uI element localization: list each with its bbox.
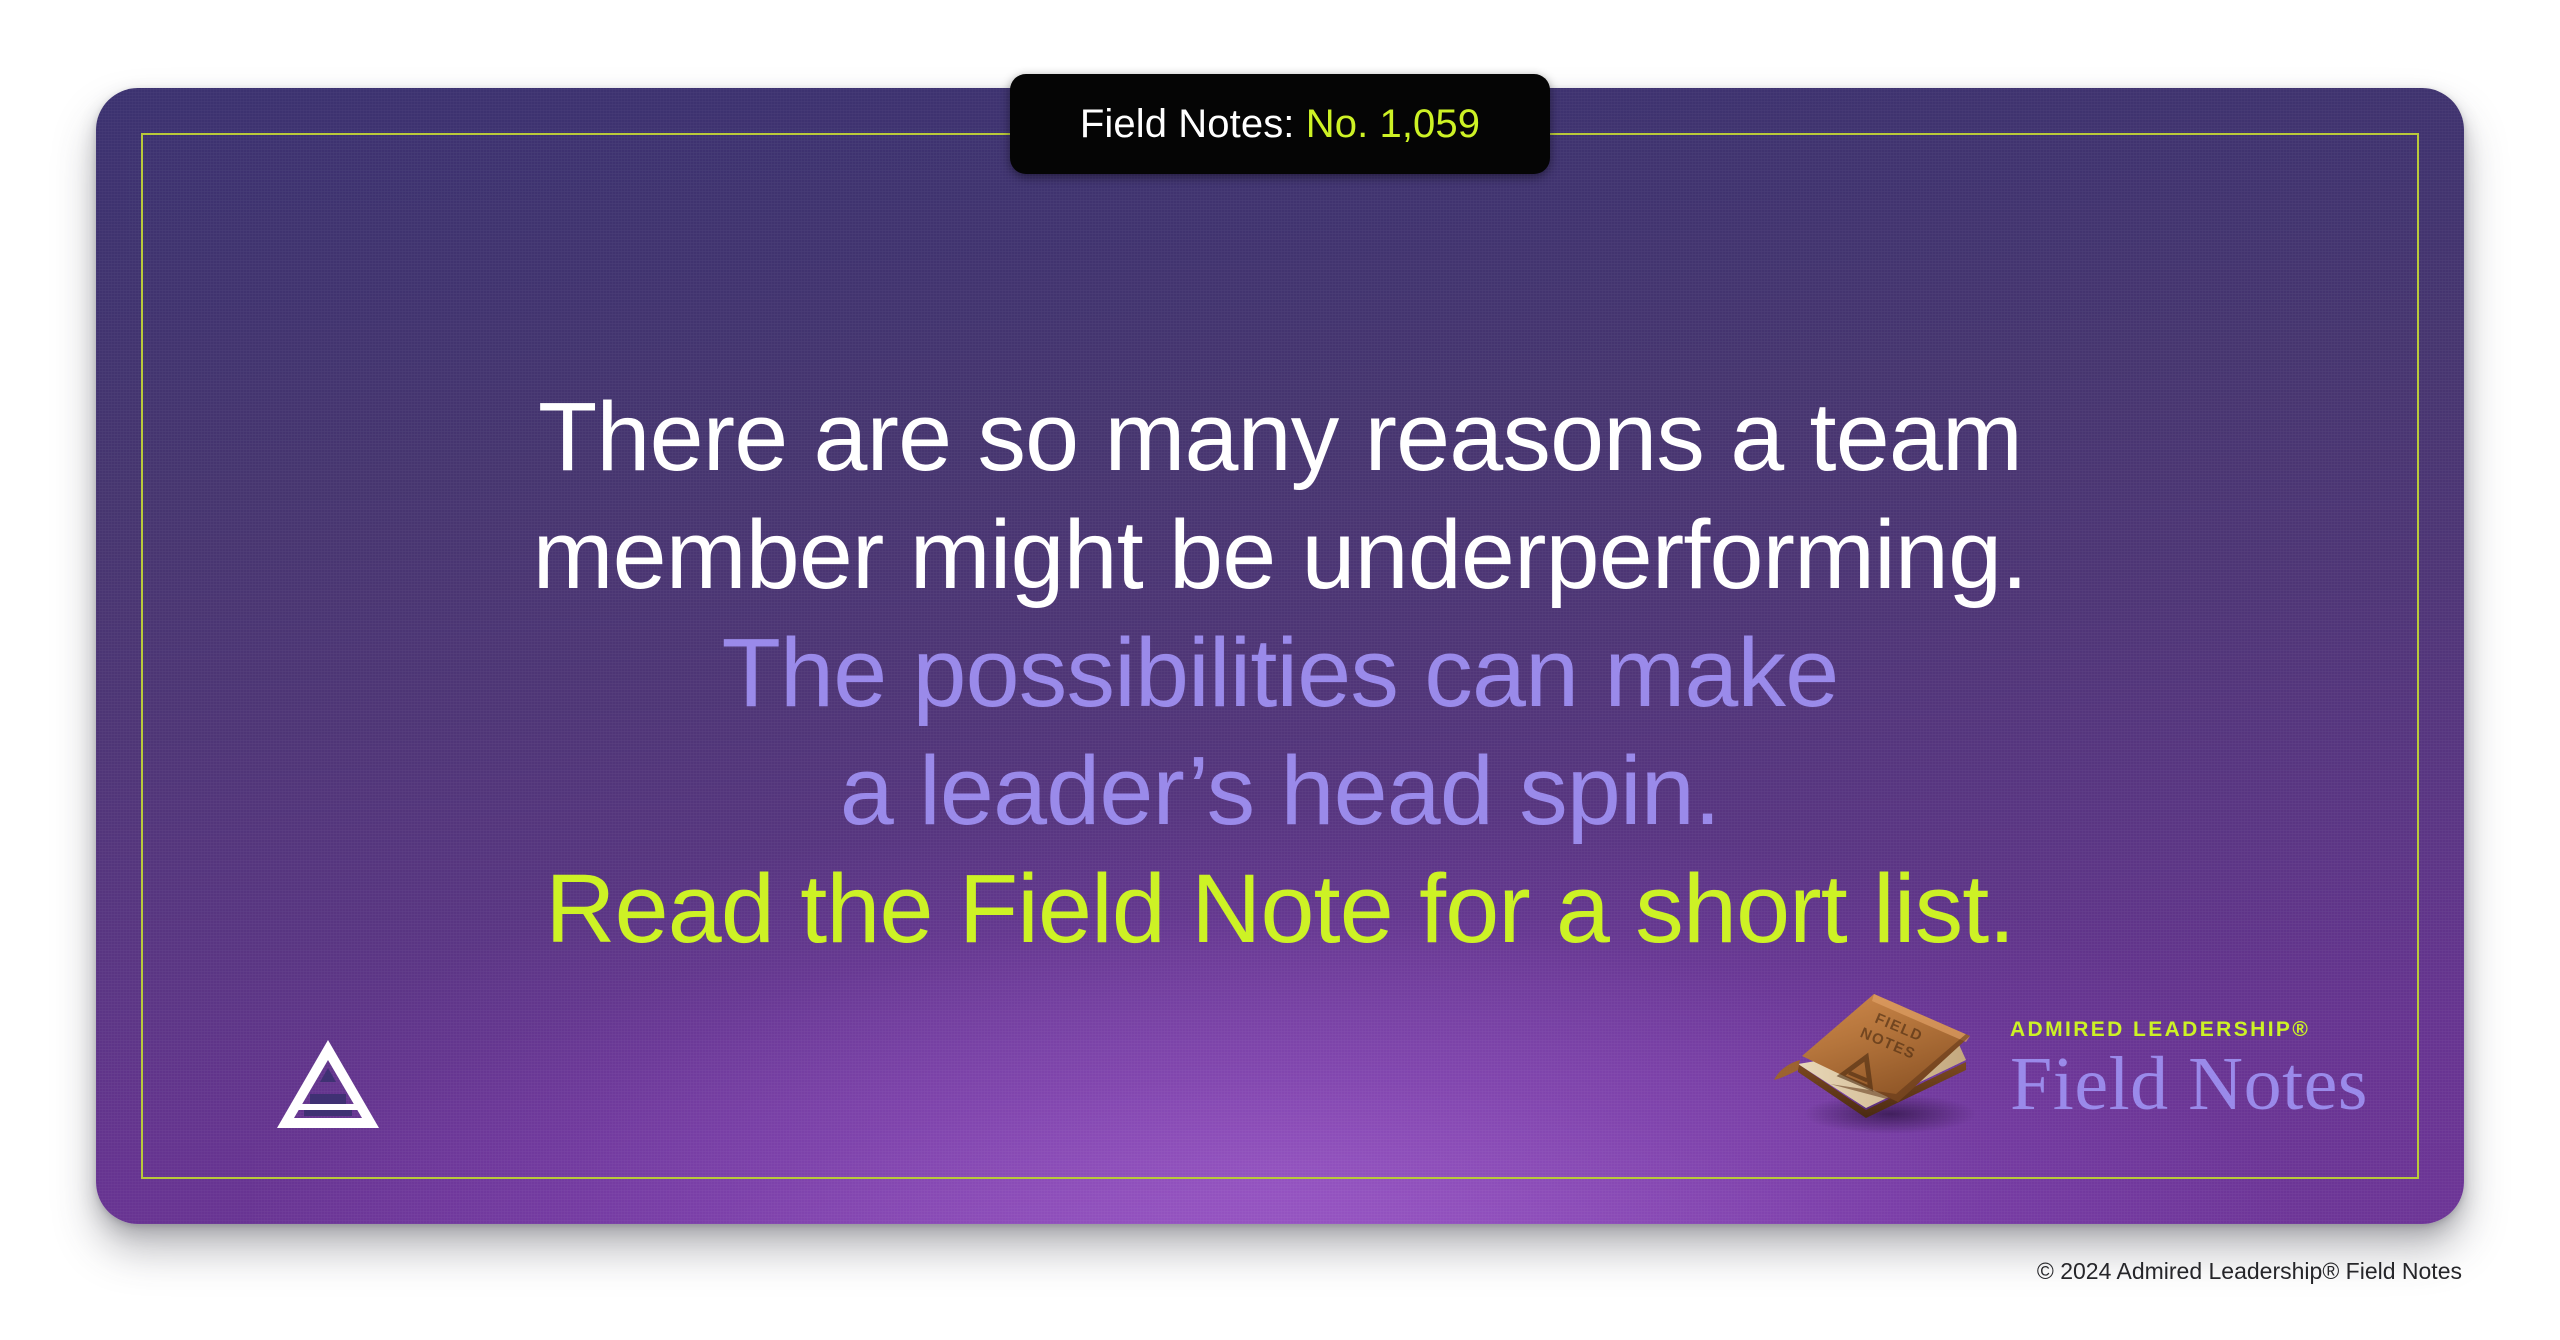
badge-label: Field Notes: (1080, 102, 1306, 146)
brand-eyebrow: ADMIRED LEADERSHIP® (2010, 1018, 2368, 1042)
quote-line-3: The possibilities can make (96, 614, 2464, 732)
page-background: There are so many reasons a team member … (0, 0, 2560, 1340)
quote-block: There are so many reasons a team member … (96, 378, 2464, 968)
brand-text: ADMIRED LEADERSHIP® Field Notes (2010, 1018, 2368, 1136)
badge-text: Field Notes: No. 1,059 (1080, 102, 1480, 147)
quote-line-1: There are so many reasons a team (96, 378, 2464, 496)
field-note-card: There are so many reasons a team member … (96, 88, 2464, 1224)
field-notes-notebook-icon: FIELD NOTES (1770, 968, 2000, 1136)
quote-line-4: a leader’s head spin. (96, 732, 2464, 850)
copyright-text: © 2024 Admired Leadership® Field Notes (2037, 1258, 2462, 1285)
badge-number: No. 1,059 (1306, 102, 1480, 146)
brand-lockup: FIELD NOTES ADMIRED LEADERSHIP® Field No… (1770, 968, 2368, 1136)
admired-leadership-logo-icon (274, 1038, 382, 1130)
field-note-number-badge: Field Notes: No. 1,059 (1010, 74, 1550, 174)
quote-line-2: member might be underperforming. (96, 496, 2464, 614)
quote-line-5: Read the Field Note for a short list. (96, 850, 2464, 968)
brand-title: Field Notes (2010, 1048, 2368, 1120)
